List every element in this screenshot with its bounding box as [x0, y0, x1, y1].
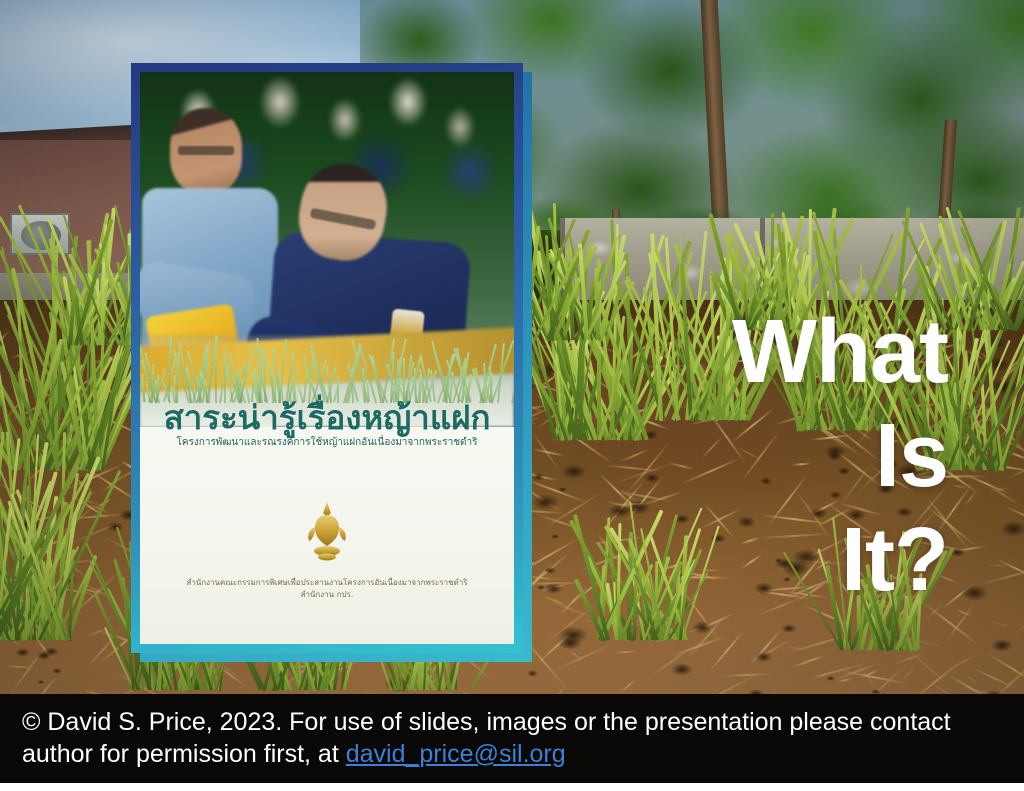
title-line-2: Is: [428, 404, 948, 508]
copyright-footer: © David S. Price, 2023. For use of slide…: [0, 694, 1024, 783]
aide-glasses: [178, 146, 234, 155]
air-conditioner-unit: [10, 213, 70, 255]
copyright-text: © David S. Price, 2023. For use of slide…: [22, 706, 997, 770]
email-link[interactable]: david_price@sil.org: [346, 740, 566, 768]
royal-garuda-emblem-icon: [305, 501, 349, 563]
title-line-3: It?: [428, 508, 948, 612]
title-line-1: What: [428, 300, 948, 404]
presentation-slide: สาระน่ารู้เรื่องหญ้าแฝก โครงการพัฒนาและร…: [0, 0, 1024, 791]
slide-bottom-edge: [0, 783, 1024, 791]
slide-title: What Is It?: [428, 300, 948, 612]
